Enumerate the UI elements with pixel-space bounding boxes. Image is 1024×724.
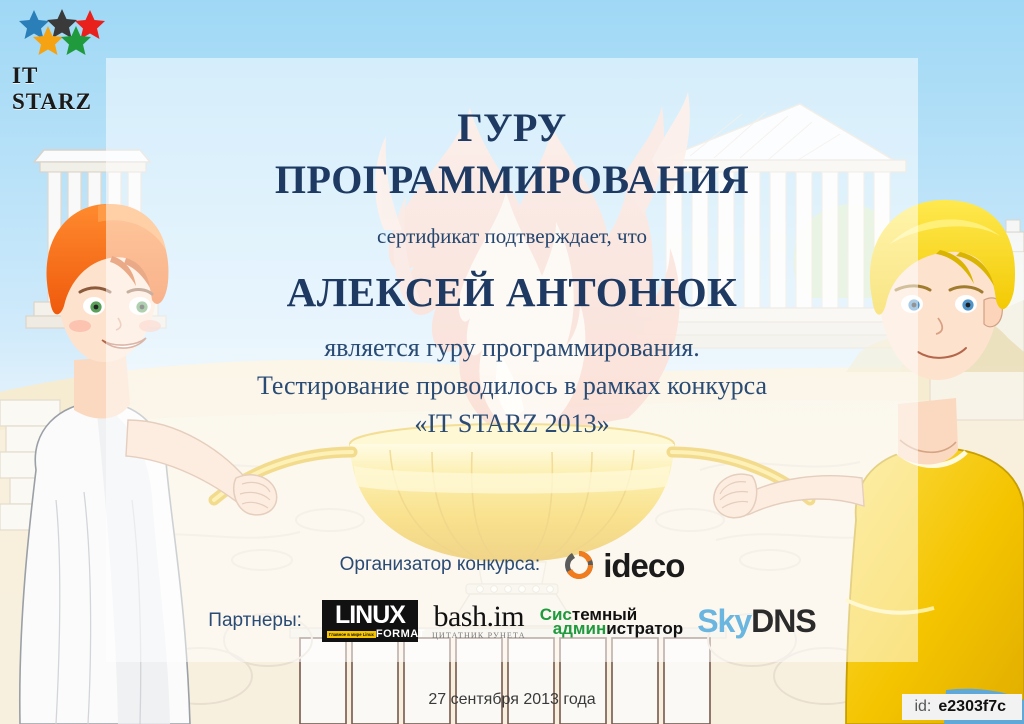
partner-logo-bash-im: bash.im ЦИТАТНИК РУНЕТА bbox=[432, 602, 526, 640]
ideco-mark-icon bbox=[562, 548, 596, 582]
linux-format-tagline: Главное в мире Linux bbox=[327, 631, 376, 638]
sysadmin-line2-rest: истратор bbox=[606, 619, 683, 638]
certificate-title-line-2: ПРОГРАММИРОВАНИЯ bbox=[0, 156, 1024, 203]
certificate-body-line-1: является гуру программирования. bbox=[0, 333, 1024, 363]
partner-logo-linux-format: LINUX Главное в мире Linux FORMAT bbox=[322, 600, 418, 642]
partners-label: Партнеры: bbox=[208, 610, 302, 632]
skydns-part-2: DNS bbox=[751, 603, 816, 639]
certificate-title-line-1: ГУРУ bbox=[0, 104, 1024, 151]
certificate-subtitle: сертификат подтверждает, что bbox=[0, 224, 1024, 249]
linux-format-name-bottom: FORMAT bbox=[376, 628, 425, 640]
organizer-row: Организатор конкурса: ideco bbox=[0, 548, 1024, 582]
ideco-wordmark: ideco bbox=[603, 549, 684, 582]
sysadmin-line2-accent: админ bbox=[553, 619, 607, 638]
partners-row: Партнеры: LINUX Главное в мире Linux FOR… bbox=[0, 600, 1024, 642]
partner-logo-skydns: SkyDNS bbox=[697, 605, 816, 637]
organizer-label: Организатор конкурса: bbox=[340, 554, 541, 576]
certificate-body-line-2: Тестирование проводилось в рамках конкур… bbox=[0, 371, 1024, 401]
ideco-logo: ideco bbox=[562, 548, 684, 582]
partner-logo-sysadmin: Системный администратор bbox=[540, 606, 684, 637]
certificate-body-line-3: «IT STARZ 2013» bbox=[0, 409, 1024, 439]
bash-im-name: bash.im bbox=[433, 602, 524, 632]
certificate-id-value: e2303f7c bbox=[938, 698, 1006, 716]
certificate-date: 27 сентября 2013 года bbox=[0, 691, 1024, 709]
recipient-name: АЛЕКСЕЙ АНТОНЮК bbox=[0, 268, 1024, 316]
linux-format-name-top: LINUX bbox=[335, 603, 405, 627]
bash-im-tagline: ЦИТАТНИК РУНЕТА bbox=[432, 631, 526, 640]
certificate-id-label: id: bbox=[914, 698, 931, 716]
skydns-part-1: Sky bbox=[697, 603, 751, 639]
certificate-canvas: IT STARZ ГУРУ ПРОГРАММИРОВАНИЯ сертифика… bbox=[0, 0, 1024, 724]
certificate-id-badge: id: e2303f7c bbox=[902, 694, 1022, 720]
